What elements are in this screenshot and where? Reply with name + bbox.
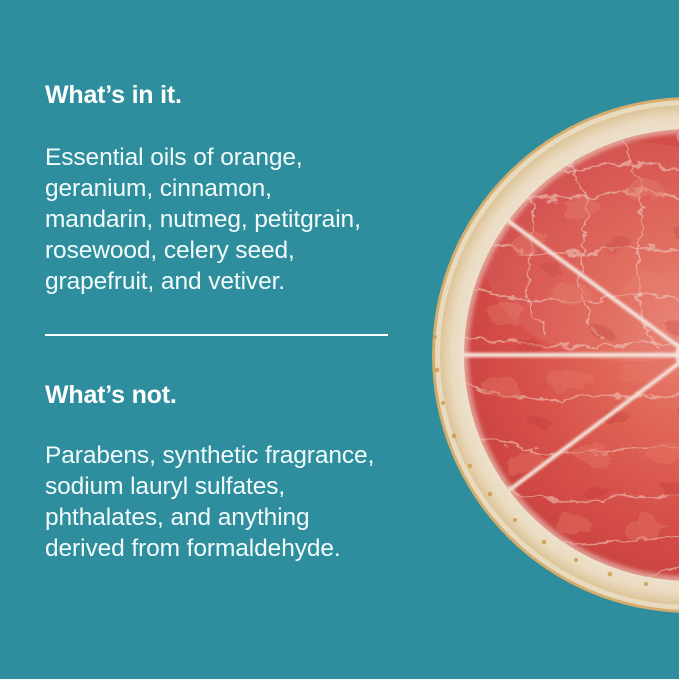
ingredient-line: mandarin, nutmeg, petitgrain, <box>45 204 361 235</box>
excluded-line: sodium lauryl sulfates, <box>45 471 374 502</box>
excluded-line: derived from formaldehyde. <box>45 533 374 564</box>
ingredient-line: grapefruit, and vetiver. <box>45 266 361 297</box>
ingredient-line: geranium, cinnamon, <box>45 173 361 204</box>
heading-whats-in-it: What’s in it. <box>45 82 182 110</box>
excluded-line: Parabens, synthetic fragrance, <box>45 440 374 471</box>
grapefruit-slice-image <box>432 62 679 658</box>
ingredient-line: rosewood, celery seed, <box>45 235 361 266</box>
horizontal-rule <box>45 334 388 336</box>
ingredient-list: Essential oils of orange, geranium, cinn… <box>45 142 361 297</box>
excluded-line: phthalates, and anything <box>45 502 374 533</box>
excluded-ingredient-list: Parabens, synthetic fragrance, sodium la… <box>45 440 374 564</box>
ingredients-panel: What’s in it. Essential oils of orange, … <box>0 0 679 679</box>
heading-whats-not: What’s not. <box>45 382 177 410</box>
ingredient-line: Essential oils of orange, <box>45 142 361 173</box>
